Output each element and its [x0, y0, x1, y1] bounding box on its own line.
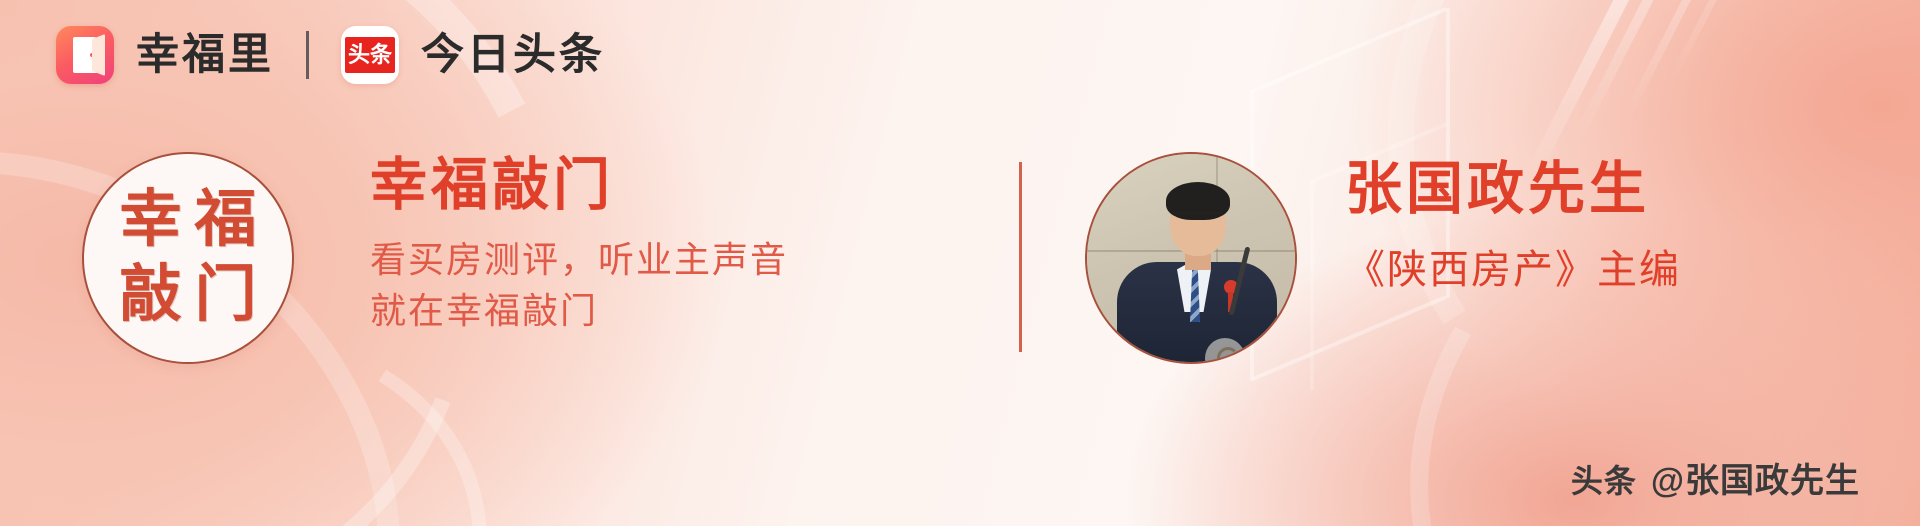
content-divider — [1019, 162, 1022, 352]
speaker-portrait-avatar: QICEC — [1085, 152, 1297, 364]
circle-logo-char: 福 — [188, 183, 263, 258]
xingfu-qiaomen-circle-logo: 幸 福 敲 门 — [82, 152, 294, 364]
banner-content: 幸 福 敲 门 幸福敲门 看买房测评，听业主声音 就在幸福敲门 Q — [0, 140, 1920, 420]
glasses-icon — [1173, 212, 1223, 227]
watermark-handle: @张国政先生 — [1651, 464, 1860, 498]
brand-header: 幸福里 头条 今日头条 — [56, 26, 605, 84]
program-title: 幸福敲门 — [370, 156, 930, 216]
program-subtitle-line-1: 看买房测评，听业主声音 — [370, 234, 930, 285]
circle-logo-char: 门 — [188, 258, 263, 333]
program-info-block: 幸福敲门 看买房测评，听业主声音 就在幸福敲门 — [370, 156, 930, 336]
speaker-role: 《陕西房产》主编 — [1345, 246, 1865, 294]
watermark: 头条 @张国政先生 — [1571, 464, 1860, 498]
light-streak-icon — [1573, 0, 1677, 141]
promo-banner: 幸福里 头条 今日头条 幸 福 敲 门 幸福敲门 看买房测评，听业主声音 就在幸… — [0, 0, 1920, 526]
xingfuli-brand-label: 幸福里 — [136, 34, 274, 77]
speaker-info-block: 张国政先生 《陕西房产》主编 — [1345, 160, 1865, 294]
toutiao-app-icon: 头条 — [341, 26, 399, 84]
speaker-name: 张国政先生 — [1345, 160, 1865, 220]
program-subtitle-line-2: 就在幸福敲门 — [370, 285, 930, 336]
circle-logo-char: 敲 — [113, 258, 188, 333]
xingfuli-door-app-icon — [56, 26, 114, 84]
toutiao-brand-label: 今日头条 — [421, 34, 605, 77]
toutiao-icon-label: 头条 — [345, 37, 395, 73]
light-streak-icon — [1622, 0, 1711, 122]
circle-logo-char: 幸 — [113, 183, 188, 258]
light-streak-icon — [1666, 0, 1747, 88]
header-divider — [306, 31, 309, 79]
watermark-toutiao-logo: 头条 — [1571, 465, 1637, 497]
